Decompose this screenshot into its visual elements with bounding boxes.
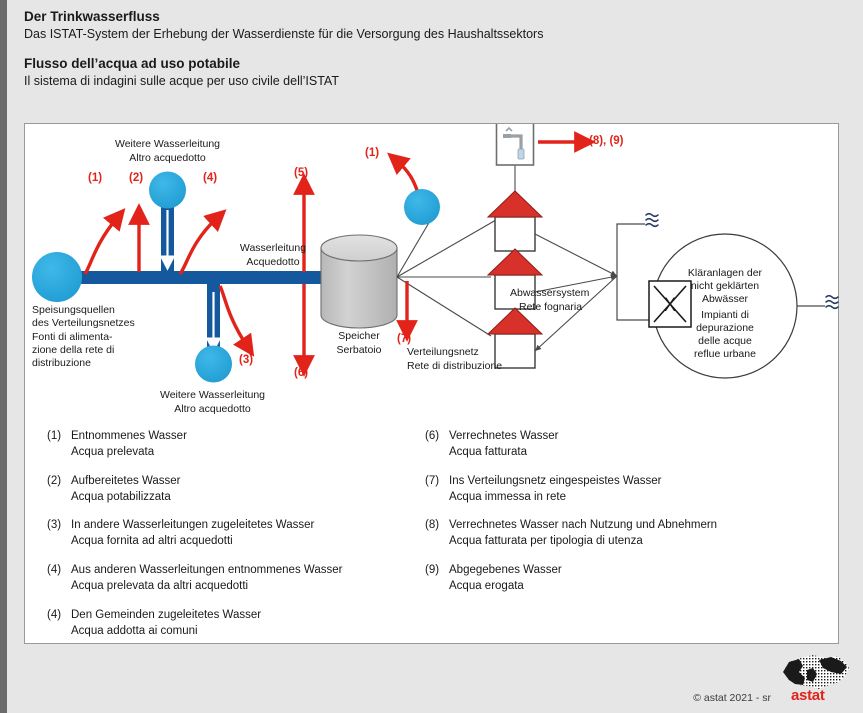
page-subtitle-it: Il sistema di indagini sulle acque per u…	[24, 73, 844, 90]
label-tank-it: Serbatoio	[309, 344, 409, 357]
legend-text-de: In andere Wasserleitungen zugeleitetes W…	[71, 518, 314, 534]
label-top-pipe-it: Altro acquedotto	[90, 152, 245, 165]
legend-text-de: Abgegebenes Wasser	[449, 563, 562, 579]
flow-number-5: (5)	[294, 167, 308, 179]
legend-text: Ins Verteilungsnetz eingespeistes Wasser…	[449, 474, 661, 506]
legend-text-de: Aufbereitetes Wasser	[71, 474, 181, 490]
legend-index: (2)	[47, 474, 71, 506]
legend-text-it: Acqua fatturata	[449, 445, 559, 461]
label-plant-marker: X	[649, 294, 691, 318]
legend-item: (9) Abgegebenes Wasser Acqua erogata	[425, 563, 825, 595]
legend-text-it: Acqua fatturata per tipologia di utenza	[449, 534, 717, 550]
legend-text: In andere Wasserleitungen zugeleitetes W…	[71, 518, 314, 550]
legend-text-it: Acqua immessa in rete	[449, 490, 661, 506]
house-top	[488, 157, 542, 251]
legend-item: (3) In andere Wasserleitungen zugeleitet…	[47, 518, 437, 550]
flow-number-1-left: (1)	[88, 172, 102, 184]
label-tank-de: Speicher	[309, 330, 409, 343]
flow-number-7: (7)	[397, 333, 411, 345]
legend-index: (4)	[47, 563, 71, 595]
label-main-pipe-de: Wasserleitung	[213, 242, 333, 255]
legend-index: (3)	[47, 518, 71, 550]
legend-column-2: (6) Verrechnetes Wasser Acqua fatturata …	[425, 429, 825, 608]
label-network-it: Rete di distribuzione	[407, 360, 502, 373]
label-top-pipe-de: Weitere Wasserleitung	[90, 138, 245, 151]
legend-text-it: Acqua addotta ai comuni	[71, 624, 261, 640]
legend-text-it: Acqua erogata	[449, 579, 562, 595]
legend-item: (4) Den Gemeinden zugeleitetes Wasser Ac…	[47, 608, 437, 640]
flow-number-8-9: (8), (9)	[589, 135, 624, 147]
legend-text: Aufbereitetes Wasser Acqua potabilizzata	[71, 474, 181, 506]
label-source-it: Fonti di alimenta- zione della rete di d…	[32, 331, 182, 370]
legend-item: (7) Ins Verteilungsnetz eingespeistes Wa…	[425, 474, 825, 506]
legend-text: Den Gemeinden zugeleitetes Wasser Acqua …	[71, 608, 261, 640]
legend-text: Abgegebenes Wasser Acqua erogata	[449, 563, 562, 595]
legend-text-de: Verrechnetes Wasser	[449, 429, 559, 445]
legend-index: (9)	[425, 563, 449, 595]
legend: (1) Entnommenes Wasser Acqua prelevata (…	[25, 429, 840, 634]
label-sewer-de: Abwassersystem	[510, 287, 589, 300]
page-subtitle-de: Das ISTAT-System der Erhebung der Wasser…	[24, 26, 844, 43]
legend-index: (4)	[47, 608, 71, 640]
legend-index: (1)	[47, 429, 71, 461]
left-edge-bar	[0, 0, 7, 713]
legend-item: (1) Entnommenes Wasser Acqua prelevata	[47, 429, 437, 461]
flow-number-1-tank: (1)	[365, 147, 379, 159]
legend-index: (7)	[425, 474, 449, 506]
flow-number-2: (2)	[129, 172, 143, 184]
flow-number-3: (3)	[239, 354, 253, 366]
legend-text: Entnommenes Wasser Acqua prelevata	[71, 429, 187, 461]
legend-text: Aus anderen Wasserleitungen entnommenes …	[71, 563, 342, 595]
legend-text-de: Aus anderen Wasserleitungen entnommenes …	[71, 563, 342, 579]
legend-index: (8)	[425, 518, 449, 550]
legend-text-it: Acqua prelevata	[71, 445, 187, 461]
legend-text-de: Verrechnetes Wasser nach Nutzung und Abn…	[449, 518, 717, 534]
label-network-de: Verteilungsnetz	[407, 346, 479, 359]
legend-text-de: Entnommenes Wasser	[71, 429, 187, 445]
page-title-de: Der Trinkwasserfluss	[24, 8, 844, 26]
legend-text-de: Den Gemeinden zugeleitetes Wasser	[71, 608, 261, 624]
legend-text-it: Acqua fornita ad altri acquedotti	[71, 534, 314, 550]
page-title-it: Flusso dell’acqua ad uso potabile	[24, 55, 844, 73]
label-main-pipe-it: Acquedotto	[213, 256, 333, 269]
tap-box	[497, 124, 534, 165]
copyright-text: © astat 2021 - sr	[693, 692, 771, 704]
legend-text-de: Ins Verteilungsnetz eingespeistes Wasser	[449, 474, 661, 490]
page-header: Der Trinkwasserfluss Das ISTAT-System de…	[24, 8, 844, 90]
label-bottom-pipe-de: Weitere Wasserleitung	[135, 389, 290, 402]
legend-column-1: (1) Entnommenes Wasser Acqua prelevata (…	[47, 429, 437, 653]
legend-item: (8) Verrechnetes Wasser nach Nutzung und…	[425, 518, 825, 550]
legend-item: (4) Aus anderen Wasserleitungen entnomme…	[47, 563, 437, 595]
legend-text-it: Acqua prelevata da altri acquedotti	[71, 579, 342, 595]
wave-symbol-upper	[646, 214, 658, 227]
astat-logo: astat	[779, 652, 853, 704]
flow-number-6: (6)	[294, 367, 308, 379]
legend-text: Verrechnetes Wasser nach Nutzung und Abn…	[449, 518, 717, 550]
legend-item: (2) Aufbereitetes Wasser Acqua potabiliz…	[47, 474, 437, 506]
label-sewer-it: Rete fognaria	[519, 301, 582, 314]
wave-symbol-lower	[826, 296, 838, 309]
astat-map-icon	[779, 652, 853, 692]
legend-text: Verrechnetes Wasser Acqua fatturata	[449, 429, 559, 461]
legend-text-it: Acqua potabilizzata	[71, 490, 181, 506]
label-bottom-pipe-it: Altro acquedotto	[135, 403, 290, 416]
flow-number-4-left: (4)	[203, 172, 217, 184]
legend-item: (6) Verrechnetes Wasser Acqua fatturata	[425, 429, 825, 461]
astat-logo-word: astat	[791, 687, 825, 704]
legend-index: (6)	[425, 429, 449, 461]
diagram-panel: Speisungsquellen des Verteilungsnetzes F…	[24, 123, 839, 644]
label-source-de: Speisungsquellen des Verteilungsnetzes	[32, 304, 177, 330]
house-bottom	[488, 308, 542, 368]
